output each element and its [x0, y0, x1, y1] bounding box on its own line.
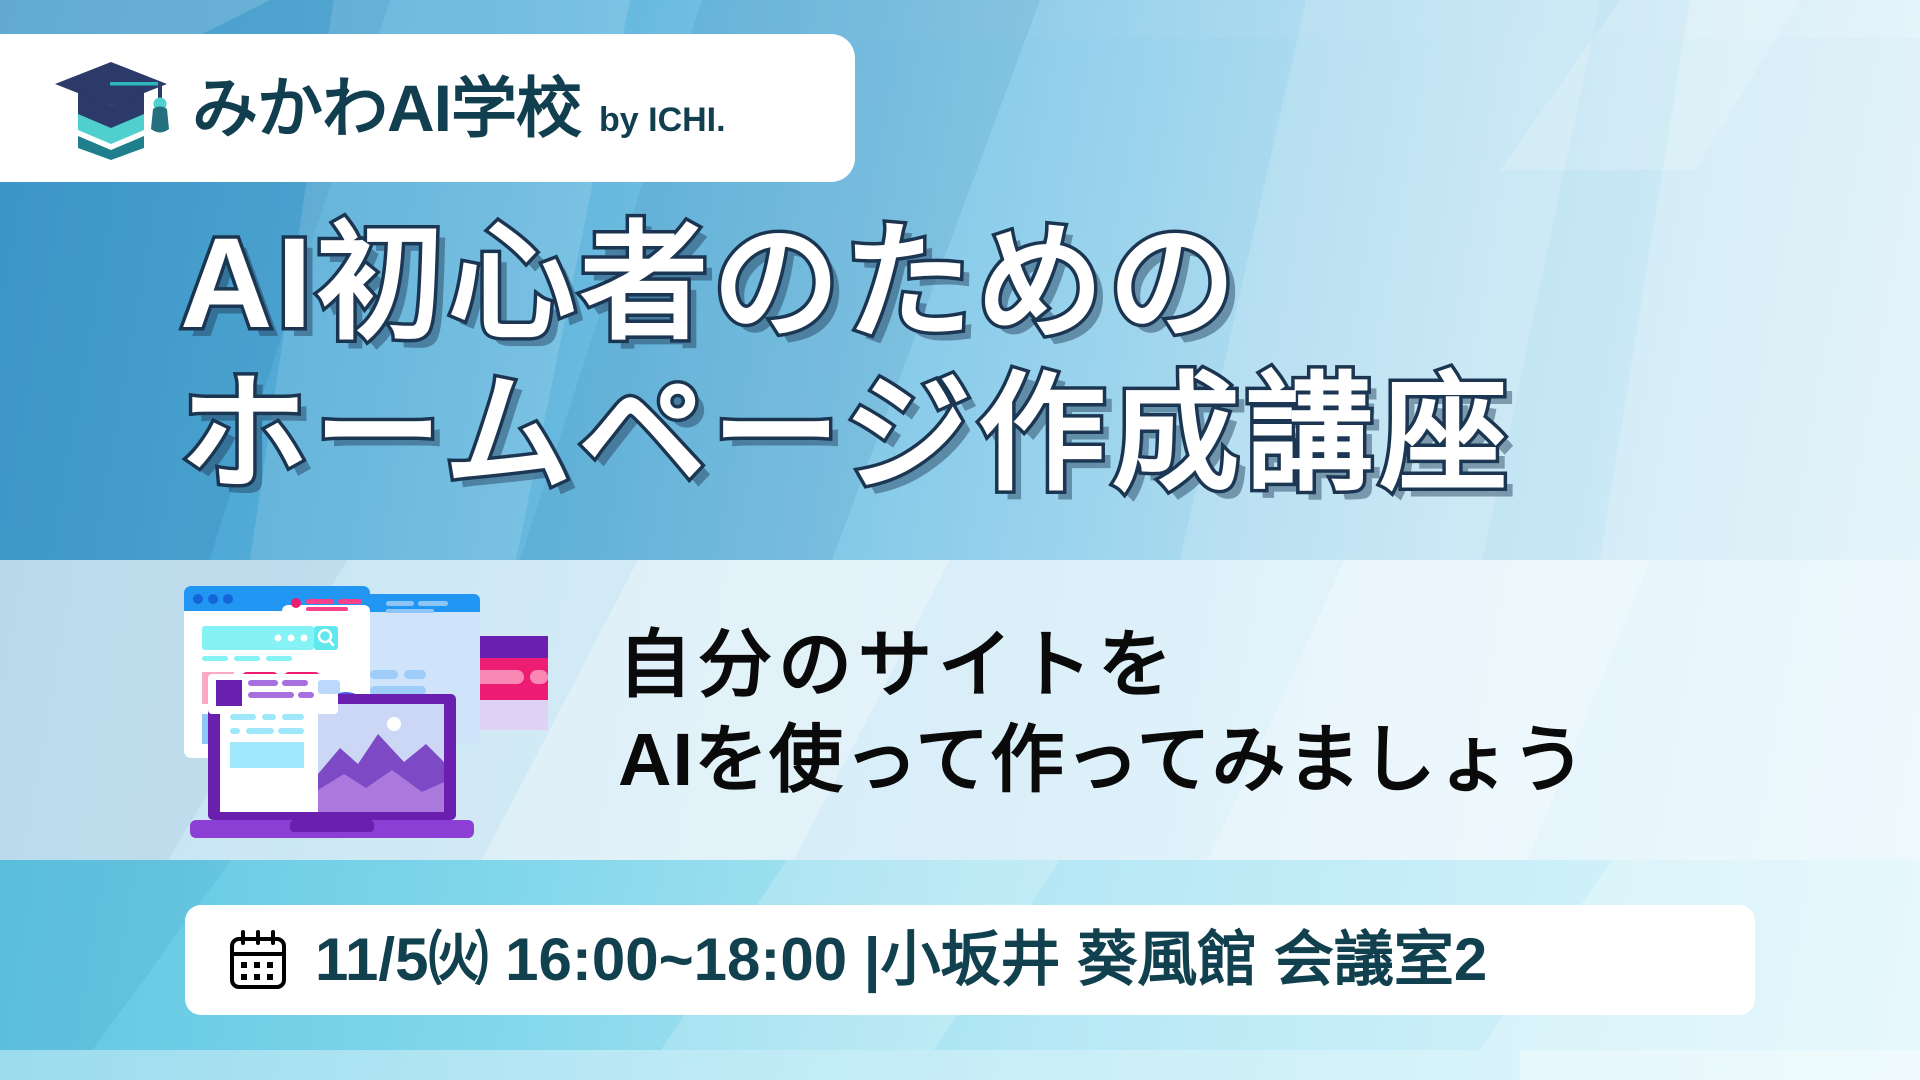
- logo-school-name: みかわAI学校: [192, 75, 581, 141]
- event-info-bar: 11/5㈫ 16:00~18:00 |小坂井 葵風館 会議室2: [185, 905, 1755, 1015]
- logo-byline: by ICHI.: [599, 103, 726, 137]
- graduation-cap-icon: [52, 56, 170, 160]
- subtitle-line-1: 自分のサイトを: [618, 618, 1587, 713]
- laptop: [190, 694, 474, 838]
- title-line-1: AI初心者のための: [180, 212, 1880, 355]
- logo-text-group: みかわAI学校 by ICHI.: [192, 75, 726, 141]
- background-band-bottom: [0, 1050, 1920, 1080]
- calendar-icon: [227, 929, 289, 991]
- website-builder-illustration: [178, 578, 548, 848]
- brand-logo-badge: みかわAI学校 by ICHI.: [0, 34, 855, 182]
- subtitle-block: 自分のサイトを AIを使って作ってみましょう: [618, 618, 1587, 807]
- background-band-top: [0, 0, 1920, 38]
- title-line-2: ホームページ作成講座: [180, 363, 1880, 506]
- overlay-card: [208, 674, 340, 714]
- event-banner: みかわAI学校 by ICHI. AI初心者のための ホームページ作成講座: [0, 0, 1920, 1080]
- subtitle-line-2: AIを使って作ってみましょう: [618, 713, 1587, 808]
- event-info-text: 11/5㈫ 16:00~18:00 |小坂井 葵風館 会議室2: [315, 930, 1487, 990]
- main-title: AI初心者のための ホームページ作成講座: [180, 212, 1880, 507]
